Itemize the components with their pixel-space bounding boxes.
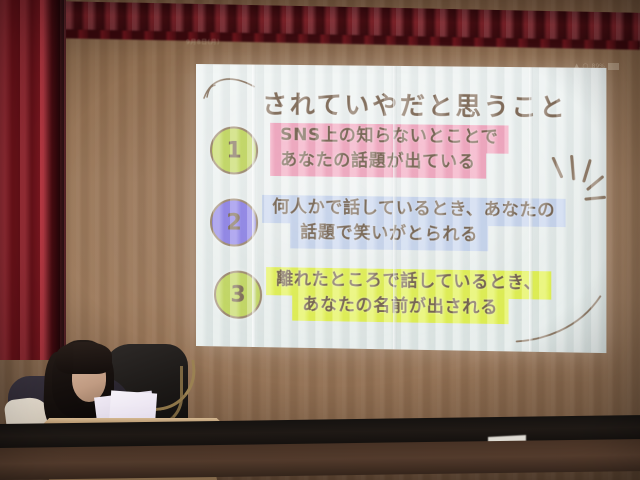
speaker-bangs — [56, 342, 112, 374]
screenshot-root: 9月8日(月) ▲ ○ 89% されていやだと思うこと 1 SNS上の知らないと… — [0, 0, 640, 480]
